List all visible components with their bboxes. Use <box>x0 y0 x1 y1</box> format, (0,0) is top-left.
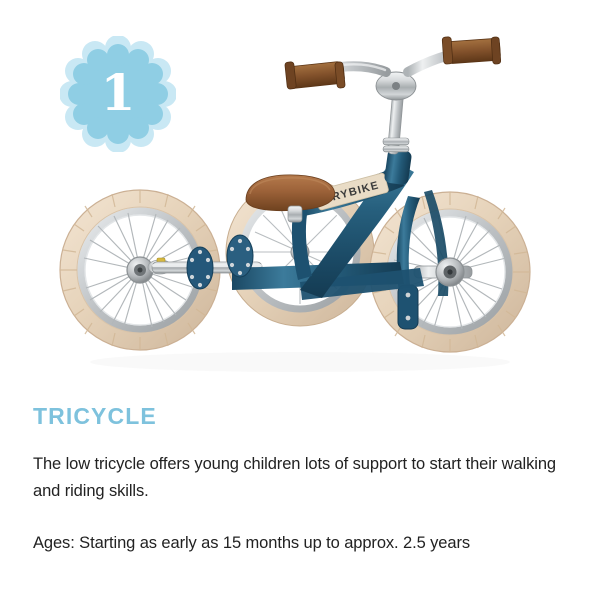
step-badge: 1 <box>60 36 176 152</box>
text-block: TRICYCLE The low tricycle offers young c… <box>33 404 573 556</box>
grip-right <box>442 37 501 65</box>
product-image-area: TRYBIKE <box>0 0 600 400</box>
product-card: TRYBIKE <box>0 0 600 600</box>
step-badge-number: 1 <box>60 36 176 152</box>
product-description: The low tricycle offers young children l… <box>33 451 569 504</box>
page-title: TRICYCLE <box>33 404 573 429</box>
product-ages: Ages: Starting as early as 15 months up … <box>33 530 573 557</box>
